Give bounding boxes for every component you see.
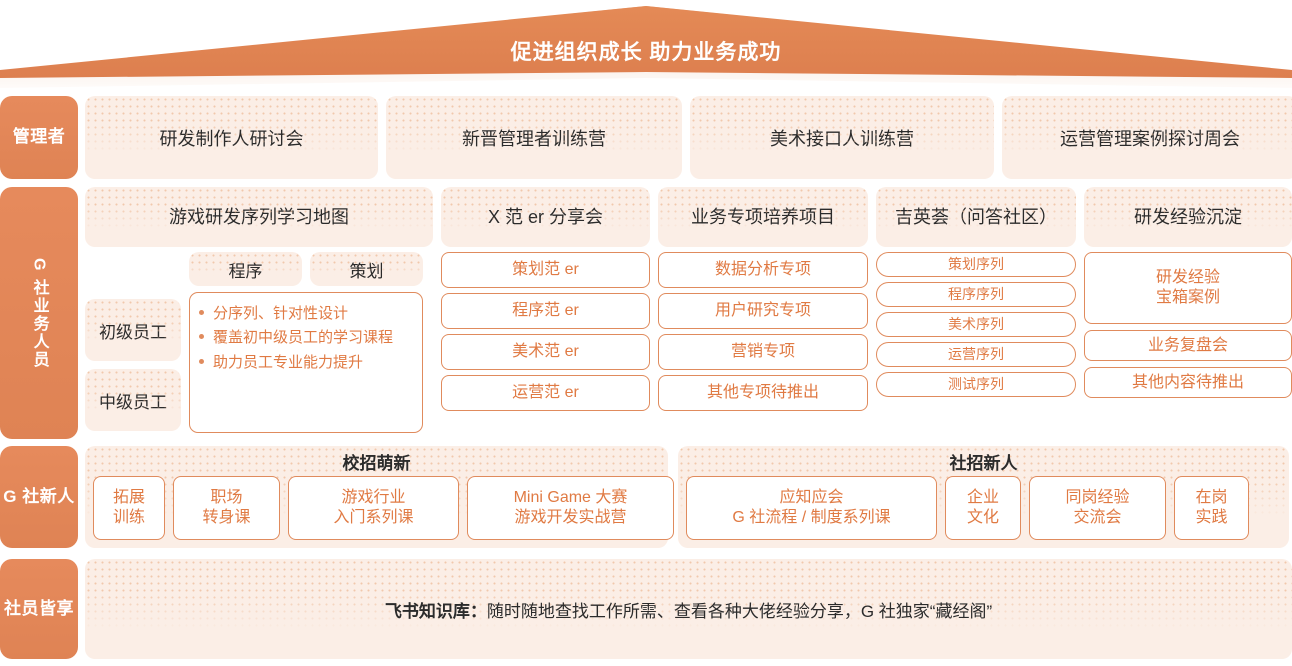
qa-sequence-item[interactable]: 程序序列 — [876, 282, 1076, 307]
row-business-body: 游戏研发序列学习地图 初级员工 中级员工 程序 策划 分序列、针对性设计 — [85, 187, 1292, 439]
roof-banner: 促进组织成长 助力业务成功 — [0, 0, 1292, 90]
row-managers: 管理者 研发制作人研讨会 新晋管理者训练营 美术接口人训练营 运营管理案例探讨周… — [0, 96, 1292, 179]
col-fan-er-sharing: X 范 er 分享会 策划范 er 程序范 er 美术范 er 运营范 er — [441, 187, 650, 439]
group-social-title: 社招新人 — [686, 446, 1281, 476]
col-qa-community-title: 吉英荟（问答社区） — [876, 187, 1076, 247]
col-rnd-experience: 研发经验沉淀 研发经验 宝箱案例 业务复盘会 其他内容待推出 — [1084, 187, 1292, 439]
training-system-diagram: 促进组织成长 助力业务成功 管理者 研发制作人研讨会 新晋管理者训练营 美术接口… — [0, 0, 1292, 666]
row-managers-body: 研发制作人研讨会 新晋管理者训练营 美术接口人训练营 运营管理案例探讨周会 — [85, 96, 1292, 179]
fan-er-item[interactable]: 运营范 er — [441, 375, 650, 411]
special-program-item[interactable]: 其他专项待推出 — [658, 375, 868, 411]
col-rnd-experience-title: 研发经验沉淀 — [1084, 187, 1292, 247]
social-item[interactable]: 在岗 实践 — [1174, 476, 1249, 540]
campus-item[interactable]: 职场 转身课 — [173, 476, 280, 540]
bullet-item: 助力员工专业能力提升 — [198, 351, 412, 374]
fan-er-item[interactable]: 美术范 er — [441, 334, 650, 370]
col-learning-map: 游戏研发序列学习地图 初级员工 中级员工 程序 策划 分序列、针对性设计 — [85, 187, 433, 439]
rnd-experience-item[interactable]: 其他内容待推出 — [1084, 367, 1292, 398]
level-junior: 初级员工 — [85, 299, 181, 361]
row-business-staff: G 社业务人员 游戏研发序列学习地图 初级员工 中级员工 程序 策划 — [0, 187, 1292, 439]
special-program-item[interactable]: 数据分析专项 — [658, 252, 868, 288]
knowledge-base-desc: 随时随地查找工作所需、查看各种大佬经验分享，G 社独家“藏经阁” — [487, 602, 992, 621]
fan-er-item[interactable]: 策划范 er — [441, 252, 650, 288]
rnd-experience-item[interactable]: 业务复盘会 — [1084, 330, 1292, 361]
row-all-members-body: 飞书知识库：随时随地查找工作所需、查看各种大佬经验分享，G 社独家“藏经阁” — [85, 559, 1292, 659]
side-label-newcomers: G 社新人 — [0, 446, 78, 548]
roof-title: 促进组织成长 助力业务成功 — [0, 36, 1292, 66]
row-newcomers: G 社新人 校招萌新 拓展 训练 职场 转身课 游戏行业 入门系列课 Mini … — [0, 446, 1292, 548]
group-social-items: 应知应会 G 社流程 / 制度系列课 企业 文化 同岗经验 交流会 在岗 实践 — [686, 476, 1281, 540]
group-social-recruits: 社招新人 应知应会 G 社流程 / 制度系列课 企业 文化 同岗经验 交流会 在… — [678, 446, 1289, 548]
fan-er-item[interactable]: 程序范 er — [441, 293, 650, 329]
campus-item[interactable]: Mini Game 大赛 游戏开发实战营 — [467, 476, 674, 540]
qa-sequence-item[interactable]: 测试序列 — [876, 372, 1076, 397]
col-learning-map-title: 游戏研发序列学习地图 — [85, 187, 433, 247]
manager-card-1[interactable]: 研发制作人研讨会 — [85, 96, 378, 179]
qa-sequence-item[interactable]: 运营序列 — [876, 342, 1076, 367]
side-label-business-staff: G 社业务人员 — [0, 187, 78, 439]
col-special-programs-title: 业务专项培养项目 — [658, 187, 868, 247]
row-newcomers-body: 校招萌新 拓展 训练 职场 转身课 游戏行业 入门系列课 Mini Game 大… — [85, 446, 1292, 548]
side-label-managers: 管理者 — [0, 96, 78, 179]
level-intermediate: 中级员工 — [85, 369, 181, 431]
group-campus-items: 拓展 训练 职场 转身课 游戏行业 入门系列课 Mini Game 大赛 游戏开… — [93, 476, 660, 540]
special-program-item[interactable]: 营销专项 — [658, 334, 868, 370]
sequence-tags: 程序 策划 — [189, 252, 423, 286]
campus-item[interactable]: 游戏行业 入门系列课 — [288, 476, 459, 540]
knowledge-base-label: 飞书知识库： — [385, 602, 487, 621]
social-item[interactable]: 企业 文化 — [945, 476, 1021, 540]
group-campus-title: 校招萌新 — [93, 446, 660, 476]
learning-map-body: 初级员工 中级员工 程序 策划 分序列、针对性设计 覆盖初中级员工的学习课程 — [85, 252, 433, 433]
col-fan-er-title: X 范 er 分享会 — [441, 187, 650, 247]
tag-planning[interactable]: 策划 — [310, 252, 423, 286]
tag-program[interactable]: 程序 — [189, 252, 302, 286]
social-item[interactable]: 同岗经验 交流会 — [1029, 476, 1166, 540]
manager-card-2[interactable]: 新晋管理者训练营 — [386, 96, 682, 179]
col-qa-community: 吉英荟（问答社区） 策划序列 程序序列 美术序列 运营序列 测试序列 — [876, 187, 1076, 439]
manager-card-4[interactable]: 运营管理案例探讨周会 — [1002, 96, 1292, 179]
side-label-all-members: 社员皆享 — [0, 559, 78, 659]
group-campus-recruits: 校招萌新 拓展 训练 职场 转身课 游戏行业 入门系列课 Mini Game 大… — [85, 446, 668, 548]
learning-map-bullets: 分序列、针对性设计 覆盖初中级员工的学习课程 助力员工专业能力提升 — [189, 292, 423, 433]
special-program-item[interactable]: 用户研究专项 — [658, 293, 868, 329]
bullet-item: 覆盖初中级员工的学习课程 — [198, 326, 412, 349]
social-item[interactable]: 应知应会 G 社流程 / 制度系列课 — [686, 476, 937, 540]
rnd-experience-item[interactable]: 研发经验 宝箱案例 — [1084, 252, 1292, 324]
row-all-members: 社员皆享 飞书知识库：随时随地查找工作所需、查看各种大佬经验分享，G 社独家“藏… — [0, 559, 1292, 659]
col-special-programs: 业务专项培养项目 数据分析专项 用户研究专项 营销专项 其他专项待推出 — [658, 187, 868, 439]
campus-item[interactable]: 拓展 训练 — [93, 476, 165, 540]
qa-sequence-item[interactable]: 美术序列 — [876, 312, 1076, 337]
learning-map-right: 程序 策划 分序列、针对性设计 覆盖初中级员工的学习课程 助力员工专业能力提升 — [181, 252, 423, 433]
qa-sequence-item[interactable]: 策划序列 — [876, 252, 1076, 277]
bullet-item: 分序列、针对性设计 — [198, 302, 412, 325]
knowledge-base-banner[interactable]: 飞书知识库：随时随地查找工作所需、查看各种大佬经验分享，G 社独家“藏经阁” — [85, 559, 1292, 659]
level-labels: 初级员工 中级员工 — [85, 252, 181, 433]
manager-card-3[interactable]: 美术接口人训练营 — [690, 96, 994, 179]
